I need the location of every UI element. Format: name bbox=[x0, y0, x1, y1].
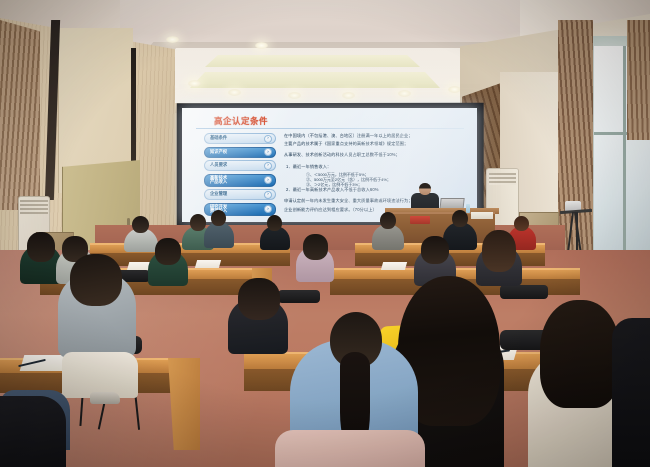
slide-nav-item-basic[interactable]: 基础条件 › bbox=[204, 133, 276, 144]
audience-head bbox=[452, 210, 468, 227]
slide-nav-label: 基础条件 bbox=[210, 136, 227, 141]
audience-head bbox=[267, 215, 282, 231]
ac-grille bbox=[489, 173, 516, 185]
slide-body-line: 从事研发、技术创新活动的科技人员占职工总数不低于10%； bbox=[284, 152, 464, 158]
slide-nav-item-personnel[interactable]: 人员要求 › bbox=[204, 160, 276, 171]
handout-paper bbox=[381, 262, 407, 270]
slide-body-line: 2．最近一年高新技术产品收入不低于总收入60% bbox=[284, 187, 464, 193]
slide-nav-label: 高新技术 产品收入 bbox=[210, 176, 227, 185]
downlight-icon bbox=[188, 80, 201, 87]
downlight-icon bbox=[288, 92, 301, 99]
ceiling-light-panel-upper bbox=[205, 55, 420, 67]
ceiling-light-panel-lower bbox=[190, 72, 440, 88]
downlight-icon bbox=[448, 86, 461, 93]
audience-head bbox=[132, 216, 149, 233]
slide-nav-label: 企业管理 bbox=[210, 192, 227, 197]
chevron-right-icon: › bbox=[264, 162, 272, 170]
audience-hair bbox=[27, 232, 55, 262]
downlight-icon bbox=[342, 92, 355, 99]
slide-nav-column: 基础条件 › 知识产权 › 人员要求 › 高新技术 产品收入 › 企业管理 › … bbox=[204, 133, 276, 218]
curtain-far-right bbox=[627, 20, 650, 140]
chair[interactable] bbox=[500, 285, 548, 299]
audience-head bbox=[211, 210, 226, 226]
chevron-right-icon: › bbox=[264, 135, 272, 143]
audience-hair-long bbox=[482, 230, 516, 272]
slide-nav-label: 知识产权 bbox=[210, 150, 227, 155]
nameplate bbox=[410, 216, 430, 224]
downlight-icon bbox=[398, 90, 411, 97]
water-bottle bbox=[466, 204, 470, 213]
slide-body-line: 主要产品的技术属于《国家重点支持的高新技术领域》规定范围； bbox=[284, 141, 464, 147]
slide-body-line: 在中国境内（不包括港、澳、台地区）注册满一年以上的居民企业； bbox=[284, 133, 464, 139]
presenter-head bbox=[419, 183, 431, 195]
audience-hair-foreground bbox=[540, 300, 620, 408]
chevron-right-icon: › bbox=[264, 191, 272, 199]
slide-nav-item-management[interactable]: 企业管理 › bbox=[204, 189, 276, 200]
desk-front-back bbox=[90, 253, 290, 266]
papers bbox=[471, 212, 493, 219]
coat-on-chair-pink bbox=[275, 430, 425, 467]
chevron-right-icon: › bbox=[264, 176, 272, 184]
audience-head bbox=[380, 212, 396, 229]
downlight-icon bbox=[255, 42, 268, 49]
audience-hair bbox=[303, 234, 328, 260]
audience-hair bbox=[238, 278, 280, 320]
curtain-left bbox=[0, 20, 40, 210]
slide-body-line: 1．最近一年销售收入： bbox=[284, 164, 464, 170]
slide-nav-item-ip[interactable]: 知识产权 › bbox=[204, 147, 276, 158]
audience-person-edge bbox=[612, 318, 650, 467]
handout-paper bbox=[195, 260, 221, 268]
shoe bbox=[90, 392, 120, 404]
slide-title: 高企认定条件 bbox=[214, 115, 268, 127]
downlight-icon bbox=[166, 36, 179, 43]
audience-hair bbox=[70, 254, 122, 306]
audience-head bbox=[190, 214, 206, 231]
slide-nav-label: 人员要求 bbox=[210, 163, 227, 168]
chevron-right-icon: › bbox=[264, 205, 272, 213]
slide-title-rule bbox=[196, 128, 464, 129]
window-mullion bbox=[623, 46, 626, 251]
audience-person-edge bbox=[0, 396, 66, 467]
ac-grille bbox=[20, 200, 48, 214]
slide-nav-item-product-revenue[interactable]: 高新技术 产品收入 › bbox=[204, 174, 276, 187]
audience-hair bbox=[155, 238, 181, 265]
chevron-right-icon: › bbox=[264, 148, 272, 156]
chair[interactable] bbox=[278, 290, 320, 303]
downlight-icon bbox=[228, 89, 241, 96]
audience-head bbox=[514, 216, 529, 231]
audience-hair bbox=[421, 236, 449, 264]
lecture-hall-scene: 高企认定条件 基础条件 › 知识产权 › 人员要求 › 高新技术 产品收入 › … bbox=[0, 0, 650, 467]
